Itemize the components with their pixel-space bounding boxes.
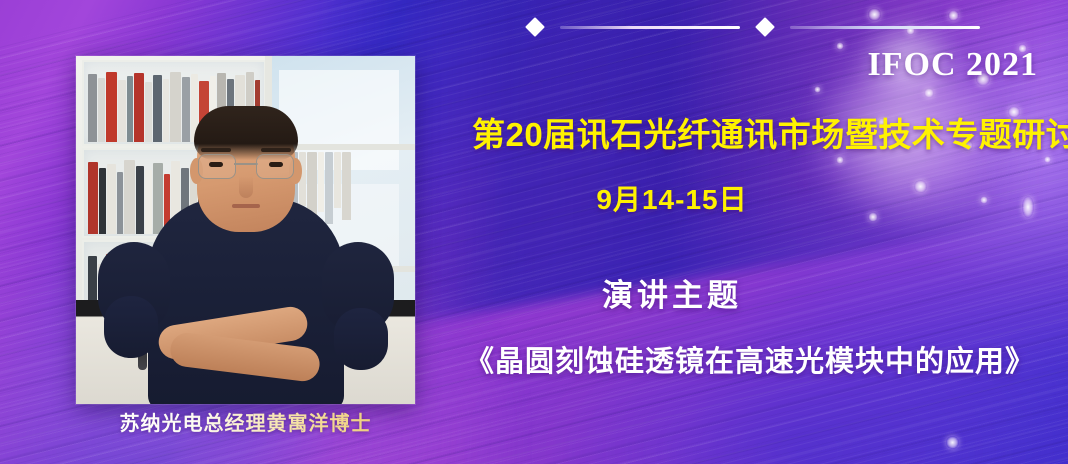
speaker-eye-left [209,162,223,167]
speaker-caption: 苏纳光电总经理黄寓洋博士 [76,404,415,444]
topic-title: 《晶圆刻蚀硅透镜在高速光模块中的应用》 [452,338,1048,380]
glasses-bridge [234,163,258,165]
speaker-eyebrow-left [201,148,231,152]
speaker-figure [96,104,396,404]
decoration-line [790,26,980,29]
speaker-sleeve-right [334,308,388,370]
poster-canvas: 苏纳光电总经理黄寓洋博士 IFOC 2021 第20届讯石光纤通讯市场暨技术专题… [0,0,1068,464]
diamond-icon [755,17,775,37]
bokeh-dot-lower [946,436,959,449]
event-title: 第20届讯石光纤通讯市场暨技术专题研讨会 [472,108,1034,156]
speaker-nose [239,176,253,198]
speaker-eyebrow-right [261,148,291,152]
speaker-mouth [232,204,260,208]
speaker-eye-right [269,162,283,167]
speaker-photo [76,56,415,404]
topic-label: 演讲主题 [472,270,872,315]
brand-logo-text: IFOC 2021 [868,46,1039,84]
top-decoration-band [0,20,1068,40]
event-date: 9月14-15日 [472,178,872,218]
bokeh-dot-lower [1022,196,1034,218]
diamond-icon [525,17,545,37]
decoration-line [560,26,740,29]
speaker-sleeve-left [104,296,158,358]
speaker-photo-image [76,56,415,404]
